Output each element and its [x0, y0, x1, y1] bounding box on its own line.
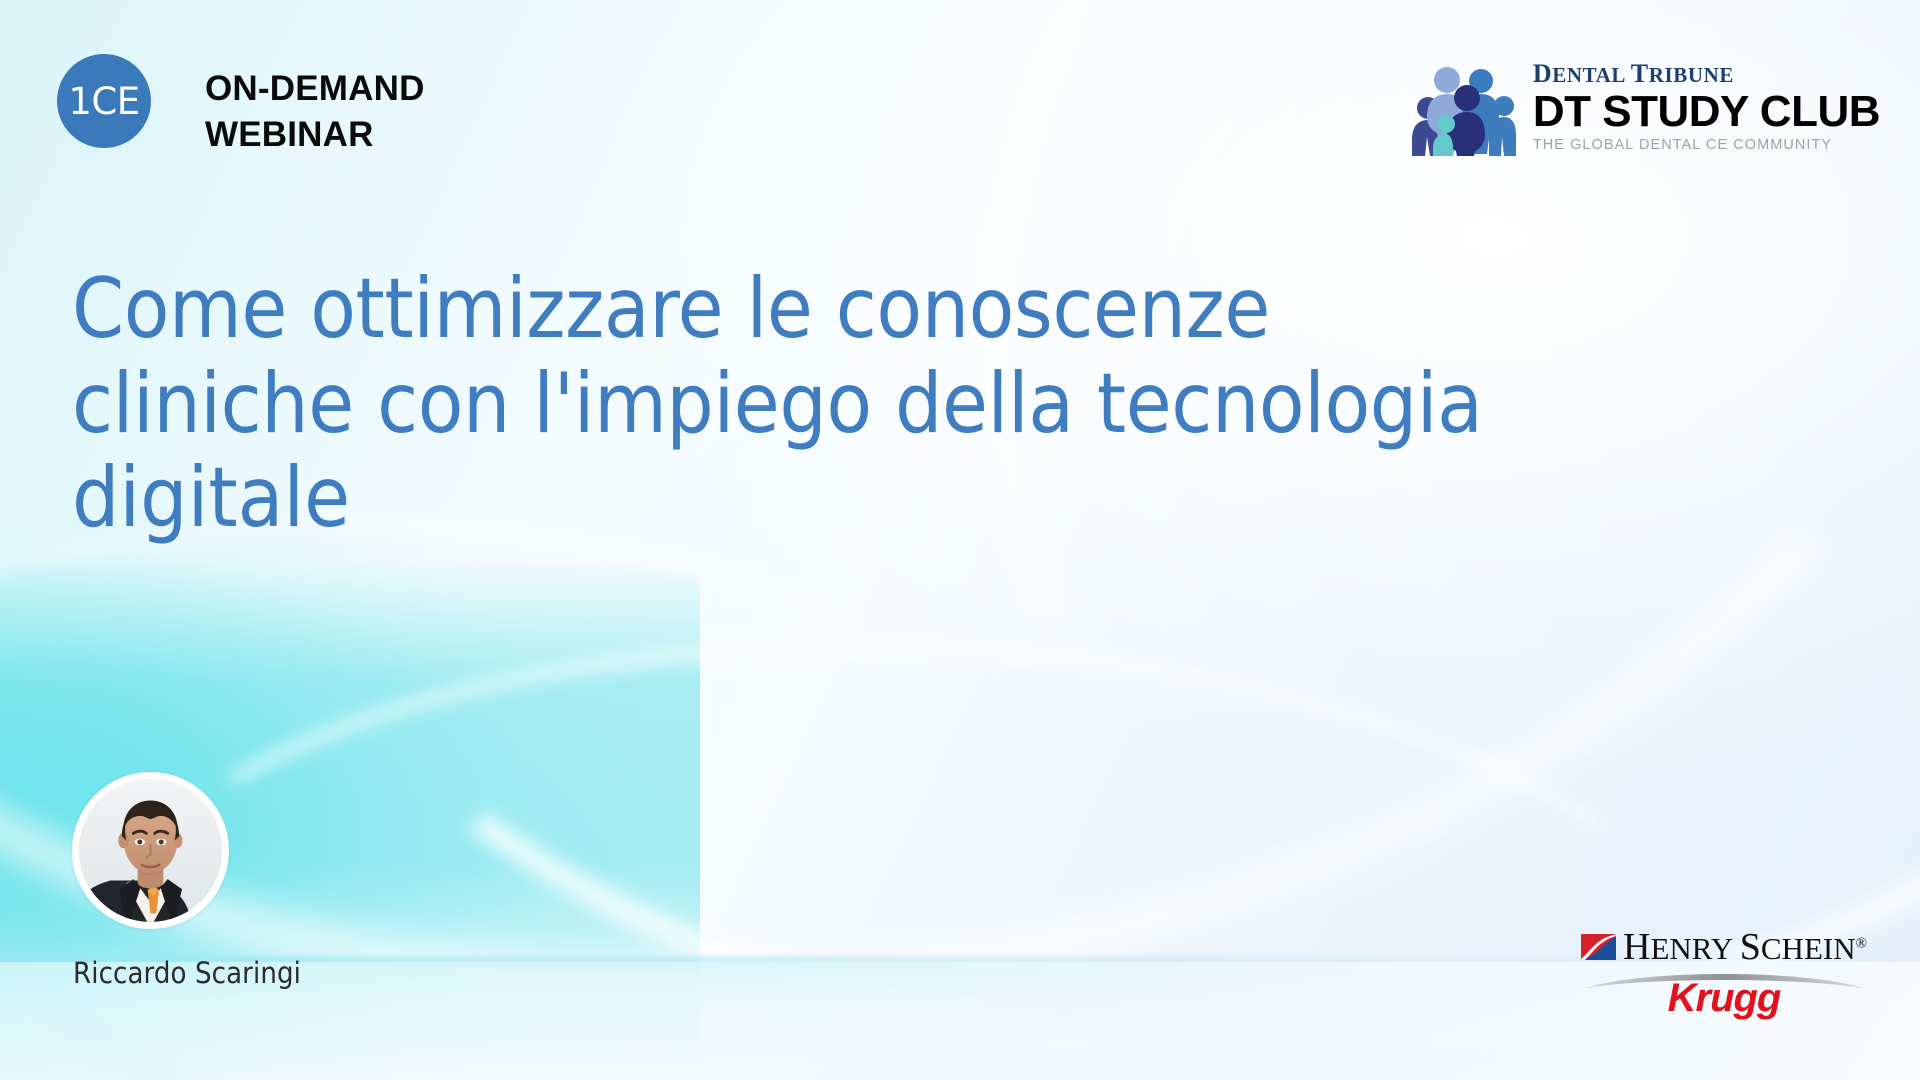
henry-schein-lockup: HENRY SCHEIN® [1580, 928, 1868, 966]
people-group-icon [1409, 56, 1519, 156]
ce-credit-label: 1CE [68, 83, 139, 120]
henry-schein-mark-icon [1581, 934, 1616, 960]
title-line-3: digitale [72, 451, 1492, 546]
kicker-line-2: WEBINAR [205, 112, 665, 158]
dental-tribune-label: DENTAL TRIBUNE [1533, 61, 1880, 87]
dt-logo-text: DENTAL TRIBUNE DT STUDY CLUB THE GLOBAL … [1533, 59, 1880, 153]
dt-study-club-name: DT STUDY CLUB [1533, 90, 1880, 134]
presenter-name: Riccardo Scaringi [73, 956, 301, 990]
title-line-2: cliniche con l'impiego della tecnologia [72, 357, 1492, 452]
title-line-1: Come ottimizzare le conoscenze [72, 262, 1492, 357]
dt-study-club-logo: DENTAL TRIBUNE DT STUDY CLUB THE GLOBAL … [1409, 56, 1880, 156]
presenter-block: Riccardo Scaringi [72, 772, 301, 990]
webinar-type-kicker: ON-DEMAND WEBINAR [205, 66, 665, 157]
presenter-headshot [79, 779, 222, 922]
kicker-line-1: ON-DEMAND [205, 66, 665, 112]
registered-mark-icon: ® [1856, 936, 1867, 952]
sponsor-logo: HENRY SCHEIN® Krugg [1580, 928, 1868, 1018]
ce-credit-badge: 1CE [57, 54, 151, 148]
webinar-promo-slide: 1CE ON-DEMAND WEBINAR [0, 0, 1920, 1080]
dt-study-club-tagline: THE GLOBAL DENTAL CE COMMUNITY [1533, 138, 1880, 153]
krugg-brand-name: Krugg [1580, 978, 1868, 1018]
henry-schein-name: HENRY SCHEIN® [1623, 928, 1867, 966]
webinar-title: Come ottimizzare le conoscenze cliniche … [72, 262, 1492, 546]
avatar [72, 772, 229, 929]
